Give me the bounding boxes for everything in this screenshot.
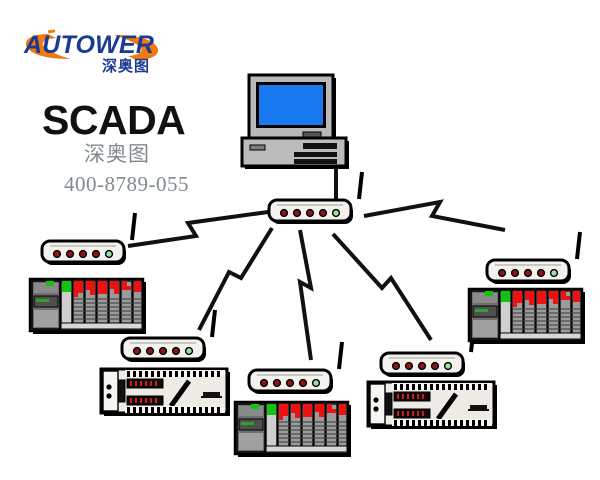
node-rtu-site-4[interactable] (368, 382, 497, 429)
autower-logo: AUTOWER 深奥图 (18, 22, 168, 72)
link-wireless-central-to-site-3 (300, 230, 311, 360)
monitor-screen (259, 85, 323, 125)
node-central-router[interactable] (269, 172, 362, 224)
node-rtu-site-2[interactable] (101, 369, 230, 416)
node-scada-host[interactable] (242, 75, 349, 169)
link-wireless-central-to-site-2 (199, 228, 272, 330)
node-plc-site-5[interactable] (469, 289, 585, 344)
node-plc-site-1[interactable] (30, 279, 146, 334)
node-router-site-3[interactable] (249, 342, 342, 394)
logo-wordmark: AUTOWER (23, 31, 154, 59)
node-router-site-5[interactable] (487, 232, 580, 284)
link-wireless-central-to-site-5 (364, 202, 505, 230)
node-router-site-1[interactable] (42, 213, 135, 265)
contact-phone: 400-8789-055 (64, 174, 189, 195)
node-plc-site-3[interactable] (235, 402, 351, 457)
link-wireless-central-to-site-1 (128, 212, 268, 246)
company-name-cn: 深奥图 (84, 144, 150, 165)
brand-block: AUTOWER 深奥图 SCADA 深奥图 400-8789-055 (18, 22, 228, 182)
logo-subtext-cn: 深奥图 (102, 57, 150, 74)
page-title: SCADA (42, 100, 185, 141)
link-wireless-central-to-site-4 (333, 234, 431, 340)
screenshot-root: AUTOWER 深奥图 SCADA 深奥图 400-8789-055 (0, 0, 600, 480)
